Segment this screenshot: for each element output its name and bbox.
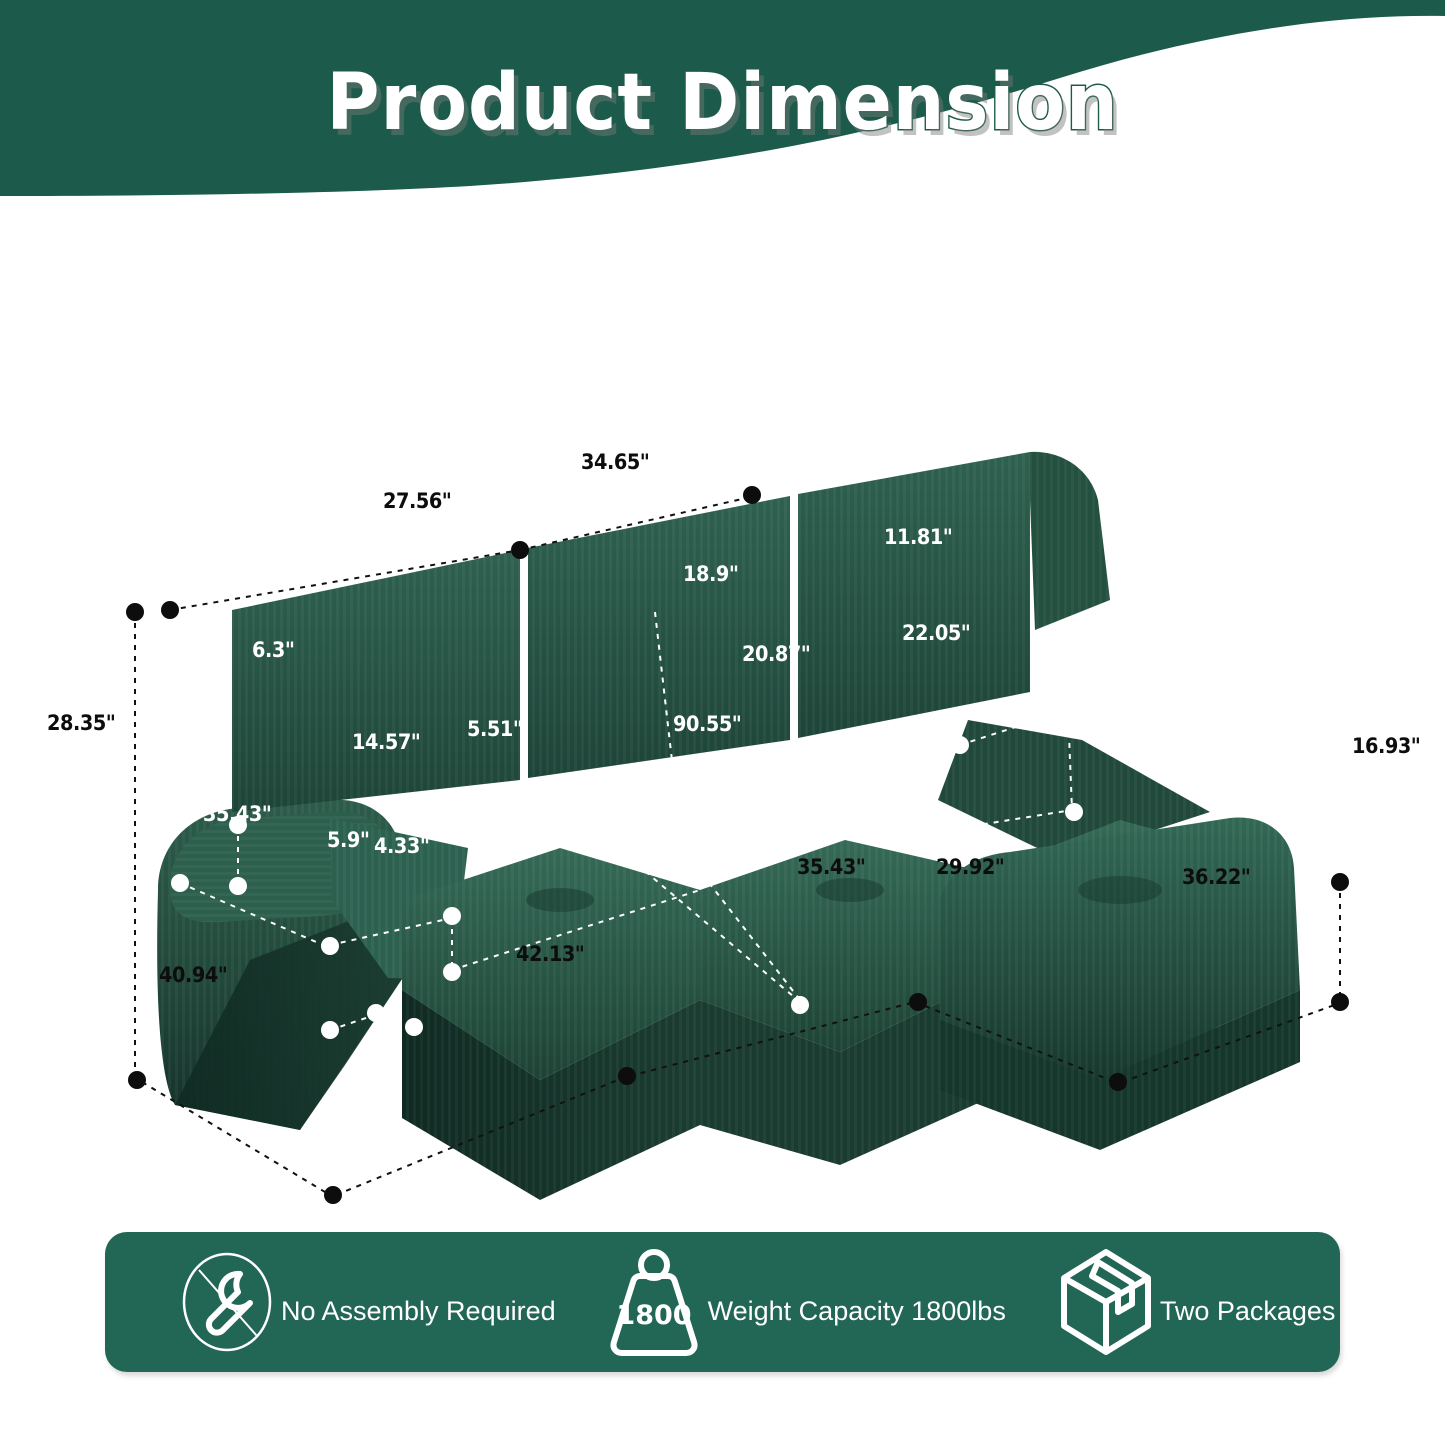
feature-label-two-packages: Two Packages [1160, 1296, 1336, 1327]
weight-capacity-icon: 1800 [602, 1247, 706, 1357]
dim-label-depth-base-corner: 29.92" [936, 855, 1004, 879]
product-diagram: 27.56" 34.65" 18.9" 11.81" 6.3" 20.87" 2… [0, 200, 1445, 1210]
dim-label-width-back-cushion: 34.65" [581, 450, 649, 474]
dim-label-height-overall-left: 28.35" [47, 711, 115, 735]
sofa-illustration [0, 200, 1445, 1210]
dim-label-height-arm-pillow: 5.51" [467, 717, 522, 741]
dim-label-width-arm-edge: 4.33" [374, 834, 429, 858]
dim-label-width-arm-front: 5.9" [327, 828, 369, 852]
no-assembly-icon [175, 1247, 279, 1357]
feature-bar: No Assembly Required 1800 Weight Capacit… [105, 1232, 1340, 1372]
weight-capacity-badge: 1800 [616, 1300, 691, 1331]
feature-weight-capacity: 1800 Weight Capacity 1800lbs [602, 1232, 1006, 1372]
feature-no-assembly: No Assembly Required [175, 1232, 556, 1372]
dim-label-height-pillow-right: 11.81" [884, 525, 952, 549]
product-dimension-infographic: Product Dimension [0, 0, 1445, 1445]
feature-two-packages: Two Packages [1054, 1232, 1336, 1372]
dim-label-overall-length: 90.55" [673, 712, 741, 736]
feature-label-weight-capacity: Weight Capacity 1800lbs [708, 1296, 1006, 1327]
dim-label-depth-corner-seat: 22.05" [902, 621, 970, 645]
package-box-icon [1054, 1247, 1158, 1357]
dim-label-height-ottoman-right: 16.93" [1352, 734, 1420, 758]
dim-label-depth-seat-cushion: 20.87" [742, 642, 810, 666]
header-banner: Product Dimension [0, 0, 1445, 200]
dim-label-depth-seat-back-top: 27.56" [383, 489, 451, 513]
dim-label-seat-height: 16.93" [808, 742, 876, 766]
dim-label-width-ottoman: 36.22" [1182, 865, 1250, 889]
dim-label-depth-base-mid: 35.43" [797, 855, 865, 879]
feature-label-no-assembly: No Assembly Required [281, 1296, 556, 1327]
dim-label-width-armrest-top: 14.57" [352, 730, 420, 754]
dim-label-depth-arm-side: 35.43" [203, 802, 271, 826]
dim-label-depth-base-left: 42.13" [516, 942, 584, 966]
dim-label-height-back-cushion: 18.9" [683, 562, 738, 586]
dim-label-height-armrest-top: 6.3" [252, 638, 294, 662]
dim-label-depth-base-front: 40.94" [159, 963, 227, 987]
page-title: Product Dimension [51, 58, 1395, 148]
